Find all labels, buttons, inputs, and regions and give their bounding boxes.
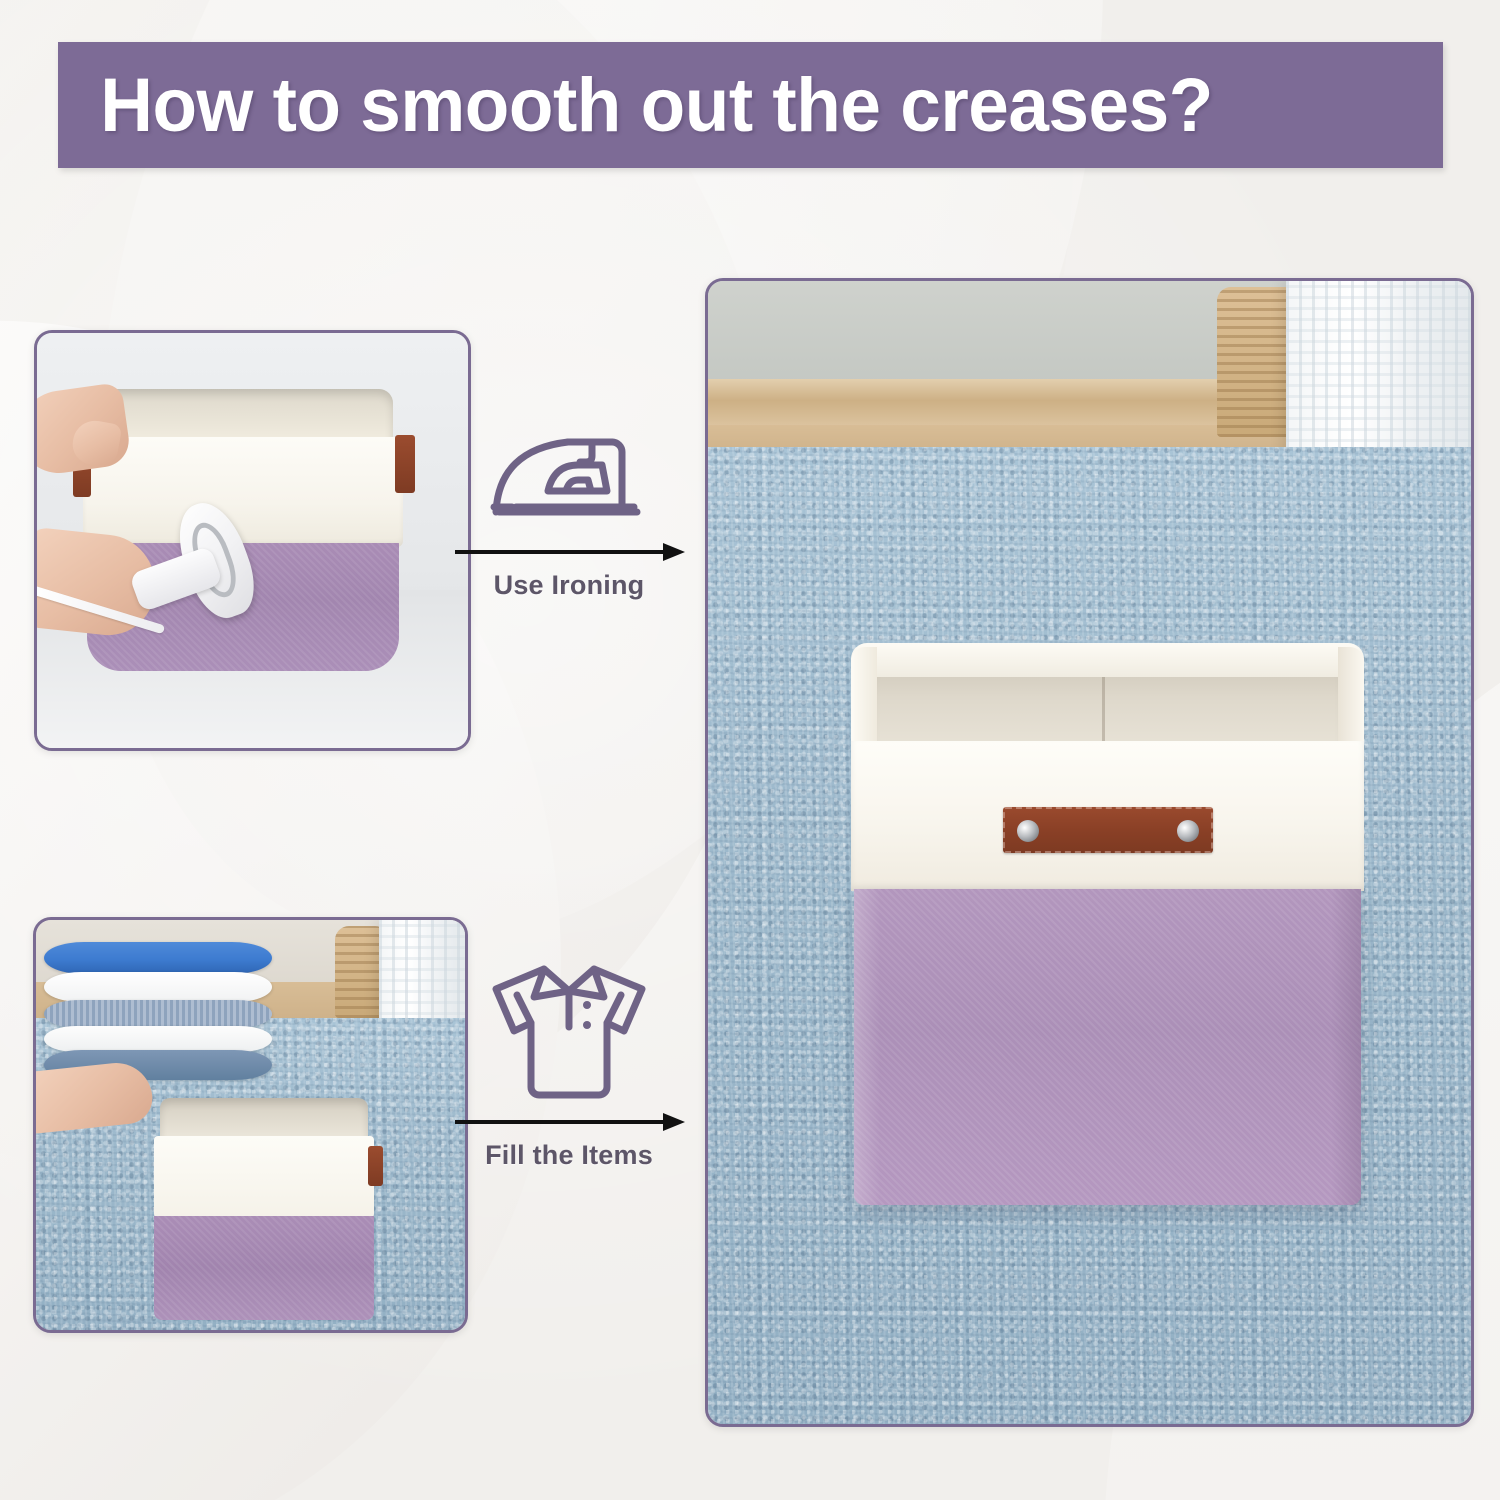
hero-scene (708, 281, 1471, 1424)
basket-purple-body (154, 1216, 374, 1320)
step-fill-the-items: Fill the Items (453, 955, 685, 1171)
white-towel (44, 1026, 272, 1052)
blue-striped-shirt (44, 1000, 272, 1028)
fabric-weave-texture (854, 889, 1361, 1205)
fill-scene (36, 920, 465, 1330)
step-label: Fill the Items (453, 1140, 685, 1171)
leather-side-tab (368, 1146, 383, 1186)
body-left-highlight (854, 889, 880, 1205)
basket-purple-body (854, 889, 1361, 1205)
polo-shirt-icon (474, 955, 664, 1105)
handle-grommet-left (1017, 820, 1039, 842)
product-basket (154, 1098, 374, 1320)
body-right-shadow (1331, 889, 1361, 1205)
basket-rim (851, 643, 1364, 677)
arrow-right-icon (453, 541, 685, 563)
steaming-basket-photo (34, 330, 471, 751)
blue-folded-shirt (44, 942, 272, 974)
step-label: Use Ironing (453, 570, 685, 601)
iron-icon (474, 415, 664, 535)
leather-side-tab-right (395, 435, 415, 493)
basket-white-band (154, 1136, 374, 1218)
page-title: How to smooth out the creases? (58, 62, 1213, 149)
steam-scene (37, 333, 468, 748)
title-banner: How to smooth out the creases? (58, 42, 1443, 168)
white-knit-sweater (44, 972, 272, 1002)
step-use-ironing: Use Ironing (453, 415, 685, 601)
folded-clothes-stack (44, 942, 272, 1082)
hero-basket-photo (705, 278, 1474, 1427)
filling-basket-photo (33, 917, 468, 1333)
arrow-right-icon (453, 1111, 685, 1133)
product-basket (851, 647, 1364, 1205)
basket-white-band (83, 437, 403, 547)
handle-grommet-right (1177, 820, 1199, 842)
fabric-weave-texture (154, 1216, 374, 1320)
